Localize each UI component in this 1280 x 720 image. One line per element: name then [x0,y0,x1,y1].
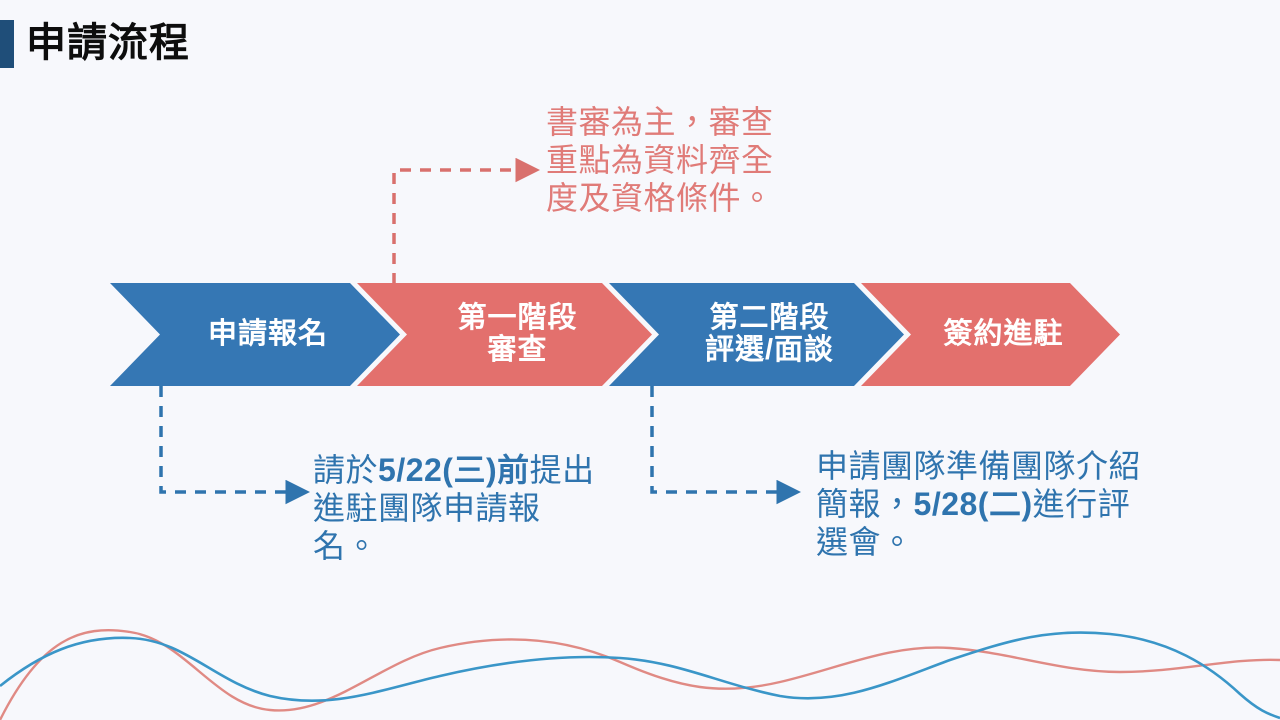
connector-interview-note [652,386,780,492]
process-step-1[interactable]: 申請報名 [110,283,400,386]
process-step-1-line1: 申請報名 [208,318,328,350]
page-title: 申請流程 [26,18,190,68]
callout-apply-note: 請於5/22(三)前提出進駐團隊申請報名。 [313,452,603,565]
connector-review-note [394,170,519,284]
process-step-3-line1: 第二階段 [709,302,829,334]
process-step-3[interactable]: 第二階段 評選/面談 [609,283,904,386]
callout-apply-prefix: 請於 [313,452,378,488]
process-step-3-line2: 評選/面談 [705,335,834,366]
process-step-2[interactable]: 第一階段 審查 [357,283,652,386]
process-step-2-line2: 審查 [457,335,577,366]
title-accent-bar [0,20,14,68]
process-step-2-line1: 第一階段 [457,302,577,334]
process-step-2-label: 第一階段 審查 [431,303,577,366]
process-step-4-label: 簽約進駐 [917,319,1063,350]
callout-review-note: 書審為主，審查 重點為資料齊全 度及資格條件。 [546,104,836,217]
wave-red-path [0,630,1280,720]
process-step-1-label: 申請報名 [182,319,328,350]
slide-root: 申請流程 申請報名 第一階段 審查 [0,0,1280,720]
callout-interview-emphasis: 5/28(二) [914,486,1033,522]
process-step-3-label: 第二階段 評選/面談 [679,303,834,366]
wave-decoration [0,610,1280,720]
connector-apply-note [161,386,289,492]
process-step-4-line1: 簽約進駐 [943,318,1063,350]
process-flow: 申請報名 第一階段 審查 第二階段 評選/面談 簽約進駐 [110,283,1120,386]
wave-blue-path [0,632,1280,718]
callout-apply-emphasis: 5/22(三)前 [378,452,530,488]
callout-interview-note: 申請團隊準備團隊介紹簡報，5/28(二)進行評選會。 [816,448,1146,561]
